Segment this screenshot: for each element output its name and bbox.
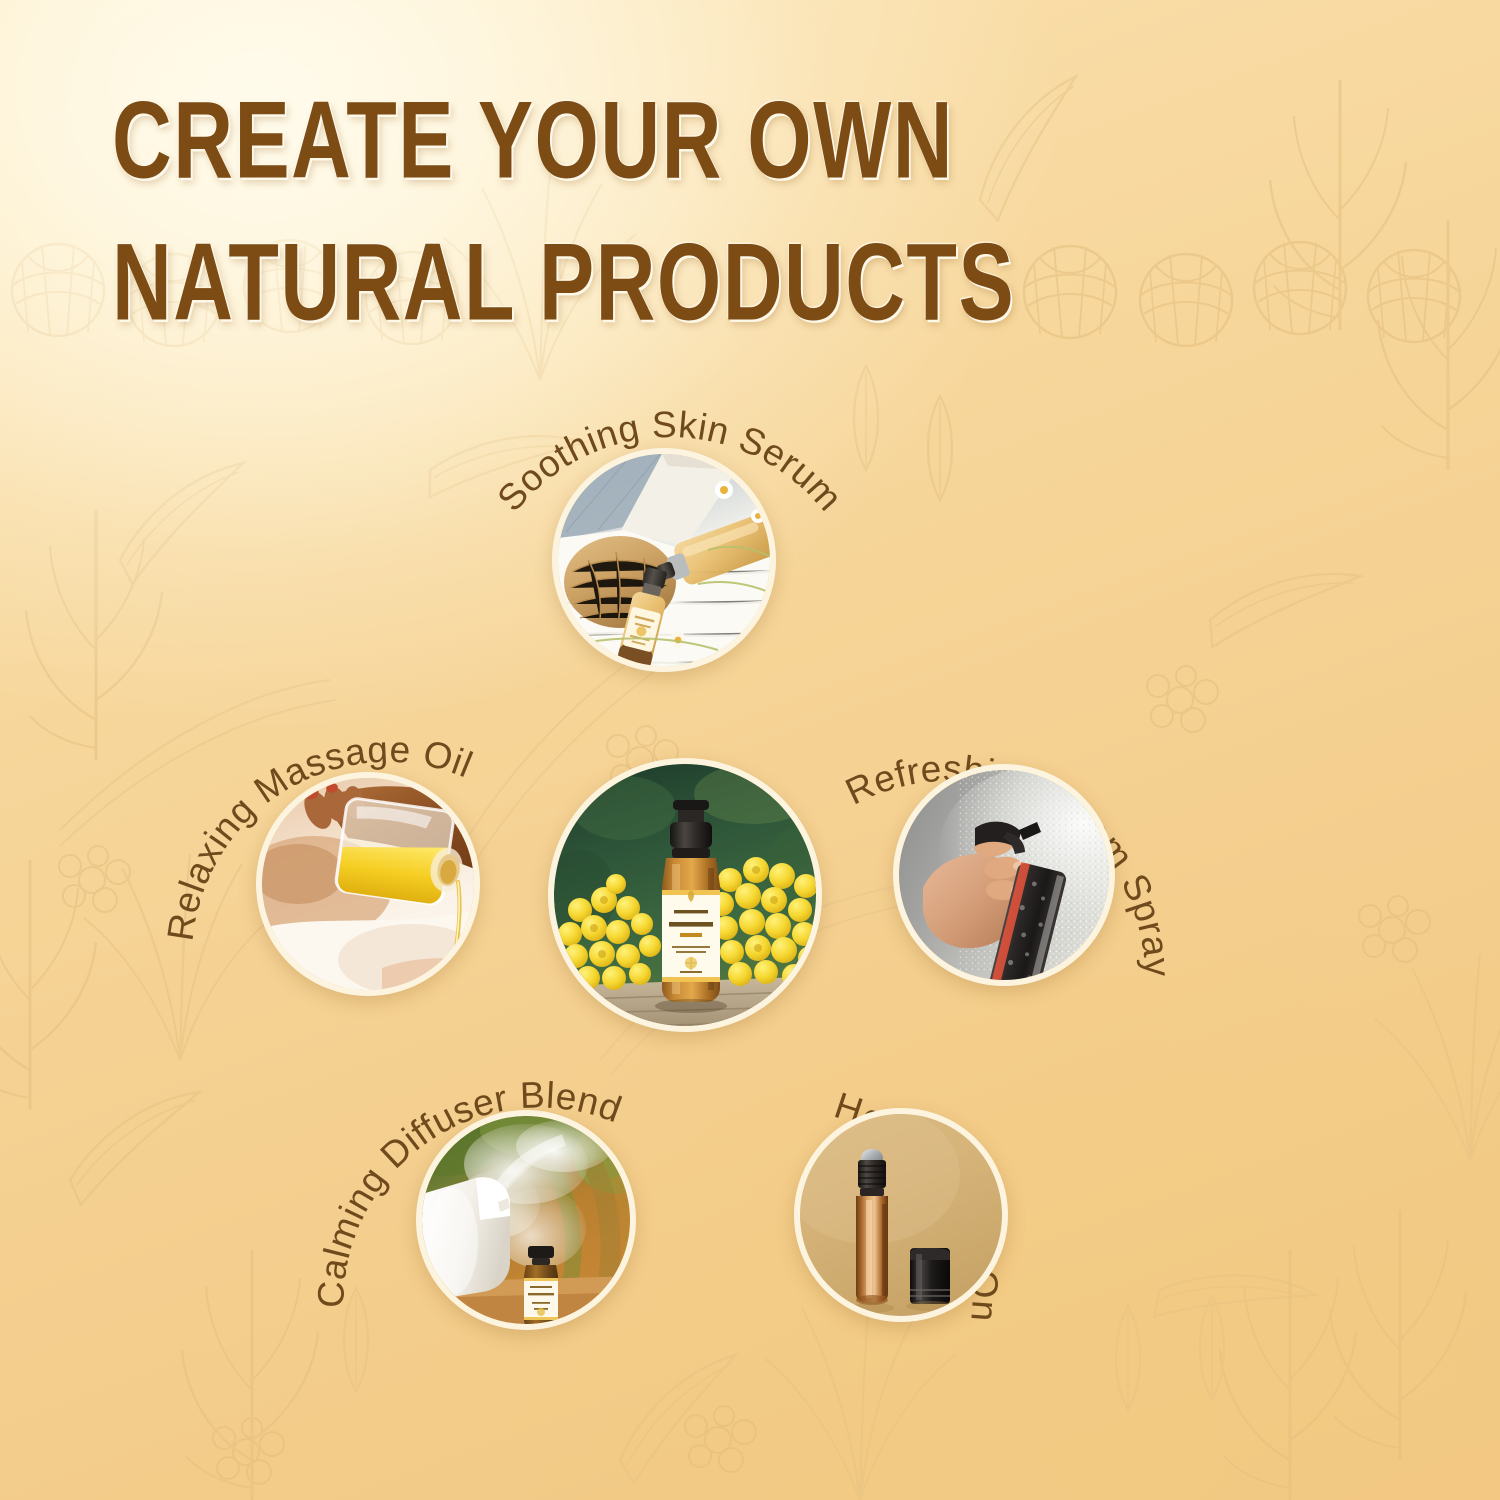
tile-product-hero[interactable] — [548, 758, 822, 1032]
photo-relaxing-massage-oil — [262, 778, 474, 990]
poster-canvas: CREATE YOUR OWN NATURAL PRODUCTS Soothin… — [0, 0, 1500, 1500]
tile-refreshing-room-spray[interactable] — [893, 764, 1115, 986]
tile-healing-roll-on[interactable] — [794, 1108, 1008, 1322]
photo-helichrysum-essential-oil — [554, 764, 816, 1026]
tile-relaxing-massage-oil[interactable] — [256, 772, 480, 996]
photo-refreshing-room-spray — [899, 770, 1109, 980]
photo-healing-roll-on — [800, 1114, 1002, 1316]
page-title: CREATE YOUR OWN NATURAL PRODUCTS — [112, 72, 1172, 318]
tile-calming-diffuser-blend[interactable] — [416, 1110, 636, 1330]
photo-calming-diffuser-blend — [422, 1116, 630, 1324]
tile-soothing-skin-serum[interactable] — [552, 448, 776, 672]
page-title-line-2: NATURAL PRODUCTS — [112, 214, 1156, 349]
page-title-line-1: CREATE YOUR OWN — [112, 72, 1156, 207]
photo-soothing-skin-serum — [558, 454, 770, 666]
